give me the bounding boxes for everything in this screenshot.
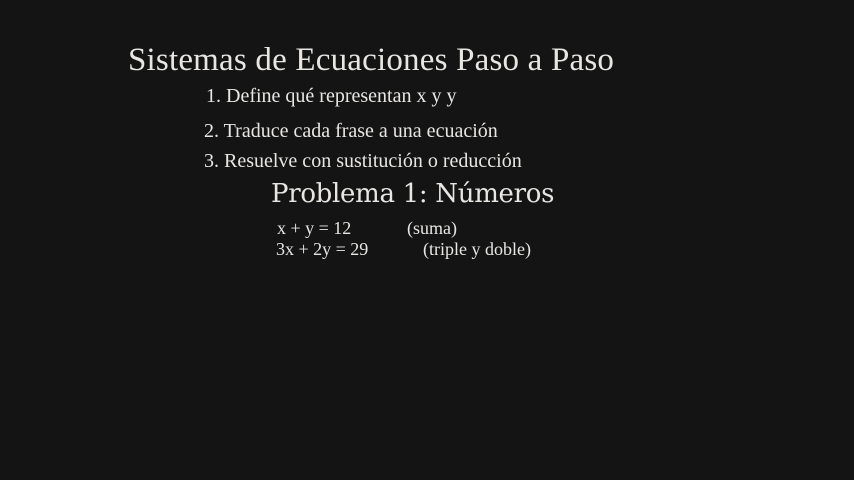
step-item-3: 3. Resuelve con sustitución o reducción: [204, 151, 522, 171]
page-title: Sistemas de Ecuaciones Paso a Paso: [128, 44, 614, 77]
slide-canvas: Sistemas de Ecuaciones Paso a Paso 1. De…: [0, 0, 854, 480]
equation-1-expression: x + y = 12: [277, 219, 351, 237]
problem-heading: Problema 1: Números: [271, 181, 554, 207]
equation-2-note: (triple y doble): [423, 240, 531, 258]
step-item-1: 1. Define qué representan x y y: [206, 86, 456, 106]
equation-1-note: (suma): [407, 219, 457, 237]
equation-2-expression: 3x + 2y = 29: [276, 240, 368, 258]
step-item-2: 2. Traduce cada frase a una ecuación: [204, 121, 498, 141]
